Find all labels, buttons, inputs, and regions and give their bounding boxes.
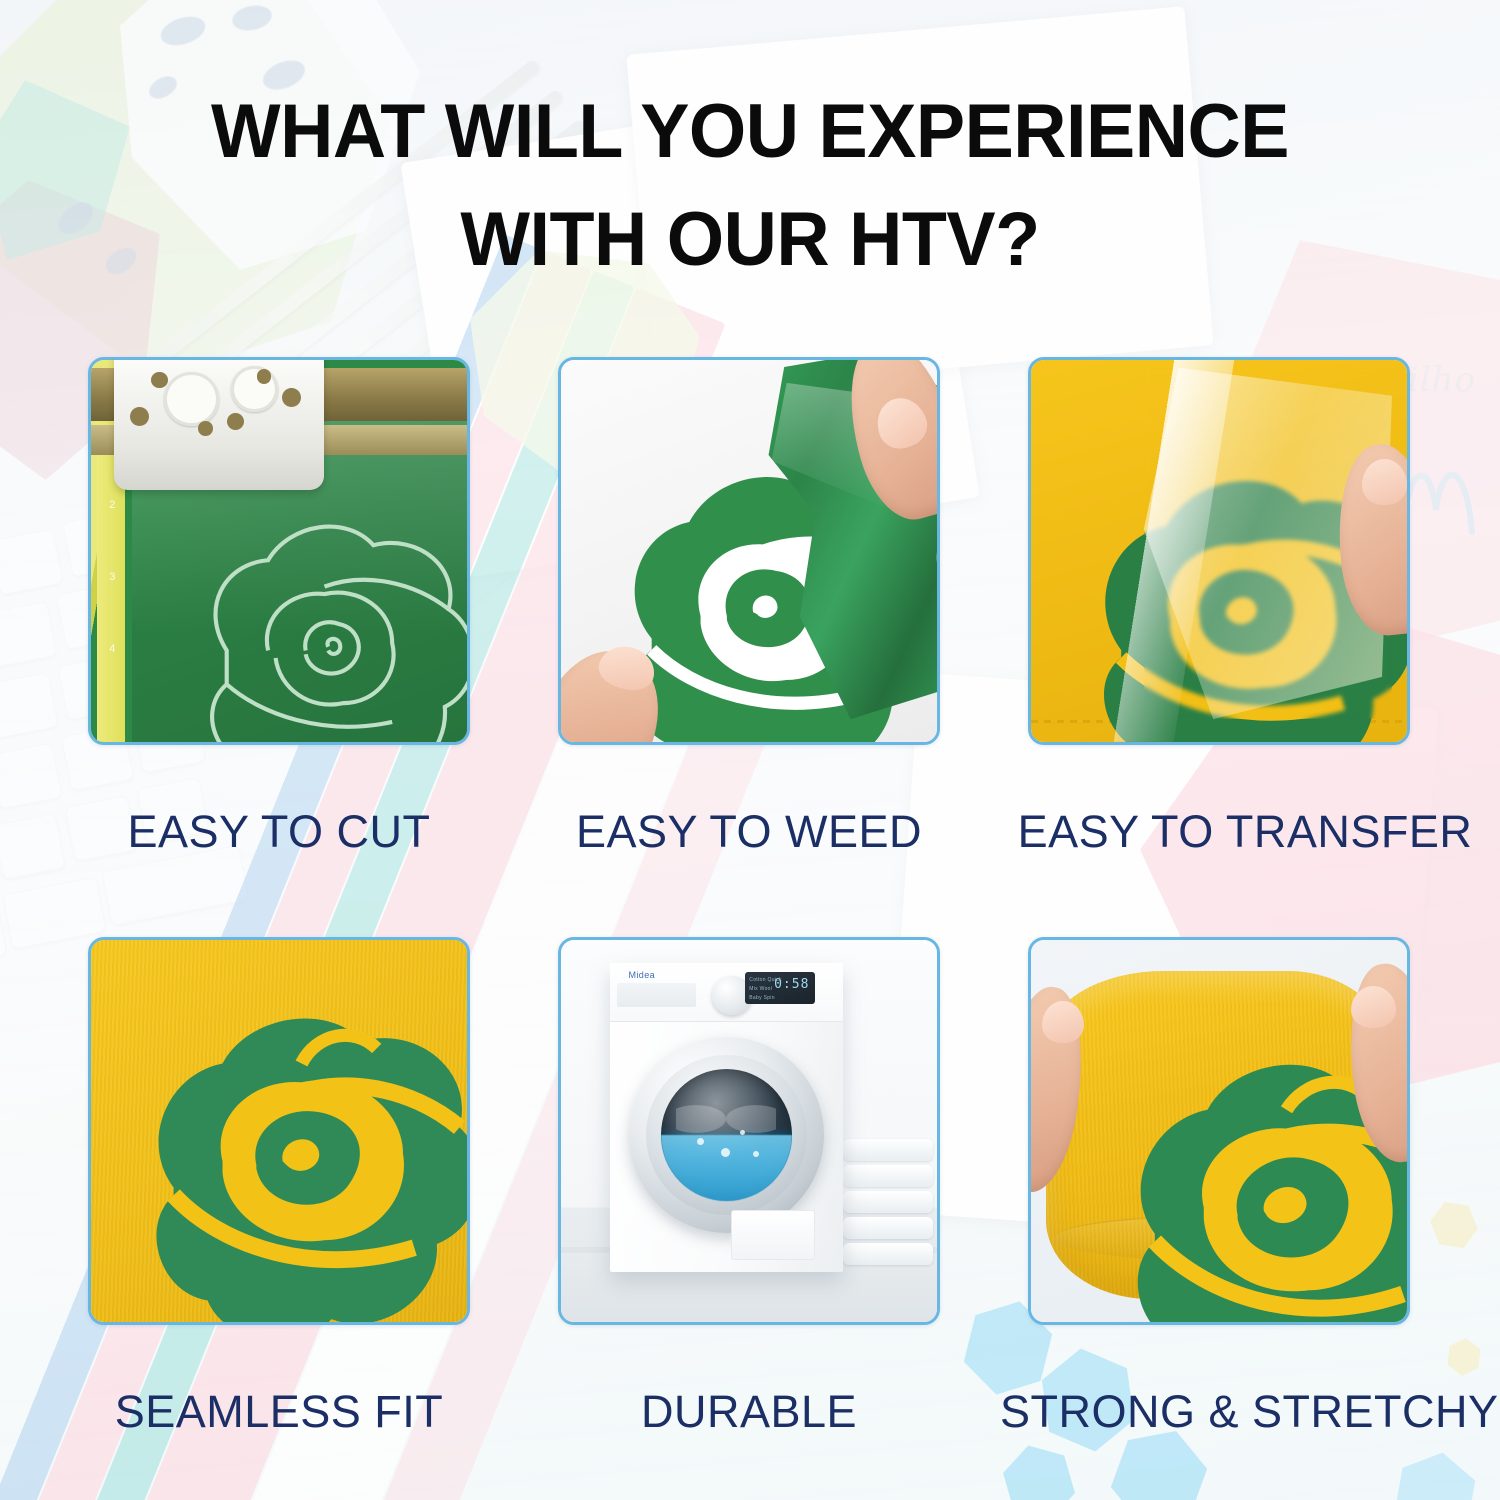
control-panel: Midea 0:58 Cotton Quick Mix Wool Baby Sp… (610, 963, 843, 1022)
washer-door[interactable] (629, 1037, 825, 1233)
digital-display: 0:58 Cotton Quick Mix Wool Baby Spin (745, 972, 815, 1004)
caption-easy-to-transfer: EASY TO TRANSFER (1010, 806, 1480, 858)
page-title-line-1: WHAT WILL YOU EXPERIENCE (23, 78, 1478, 186)
program-row: Baby Spin (749, 995, 775, 1001)
feature-tile-strong-and-stretchy[interactable] (1028, 937, 1410, 1325)
detergent-drawer[interactable] (617, 983, 696, 1007)
stretch-image (1031, 940, 1407, 1322)
rose-decal-icon (121, 974, 467, 1322)
program-row: Mix Wool (749, 986, 772, 992)
fingernail (1042, 1001, 1083, 1043)
seamless-fit-image (91, 940, 467, 1322)
feature-tile-easy-to-weed[interactable] (558, 357, 940, 745)
caption-durable: DURABLE (558, 1386, 940, 1438)
filter-hatch[interactable] (731, 1210, 815, 1260)
cutting-machine-image: 234 (91, 360, 467, 742)
water-bubble (753, 1151, 759, 1157)
water-bubble (740, 1130, 745, 1135)
feature-tile-seamless-fit[interactable] (88, 937, 470, 1325)
page-title-line-2: WITH OUR HTV? (23, 186, 1478, 294)
feature-tile-durable[interactable]: Midea 0:58 Cotton Quick Mix Wool Baby Sp… (558, 937, 940, 1325)
water-in-drum (661, 1135, 793, 1201)
page-title: WHAT WILL YOU EXPERIENCE WITH OUR HTV? (23, 78, 1478, 294)
brand-label: Midea (629, 970, 656, 980)
caption-strong-and-stretchy: STRONG & STRETCHY (1000, 1386, 1490, 1438)
rose-cut-outline-icon (144, 467, 467, 742)
transfer-image (1031, 360, 1407, 742)
washing-machine-image: Midea 0:58 Cotton Quick Mix Wool Baby Sp… (561, 940, 937, 1322)
caption-seamless-fit: SEAMLESS FIT (88, 1386, 470, 1438)
fingernail (1362, 459, 1407, 505)
fingernail (1351, 986, 1396, 1028)
caption-easy-to-weed: EASY TO WEED (558, 806, 940, 858)
feature-tile-easy-to-transfer[interactable] (1028, 357, 1410, 745)
folded-towels (843, 1139, 933, 1269)
feature-tile-easy-to-cut[interactable]: 234 (88, 357, 470, 745)
program-row: Cotton Quick (749, 977, 782, 983)
weeding-image (561, 360, 937, 742)
door-glass (661, 1069, 793, 1201)
washing-machine-body: Midea 0:58 Cotton Quick Mix Wool Baby Sp… (610, 963, 843, 1272)
caption-easy-to-cut: EASY TO CUT (88, 806, 470, 858)
door-rim (646, 1055, 807, 1216)
infographic-content: WHAT WILL YOU EXPERIENCE WITH OUR HTV? 2… (0, 0, 1500, 1500)
